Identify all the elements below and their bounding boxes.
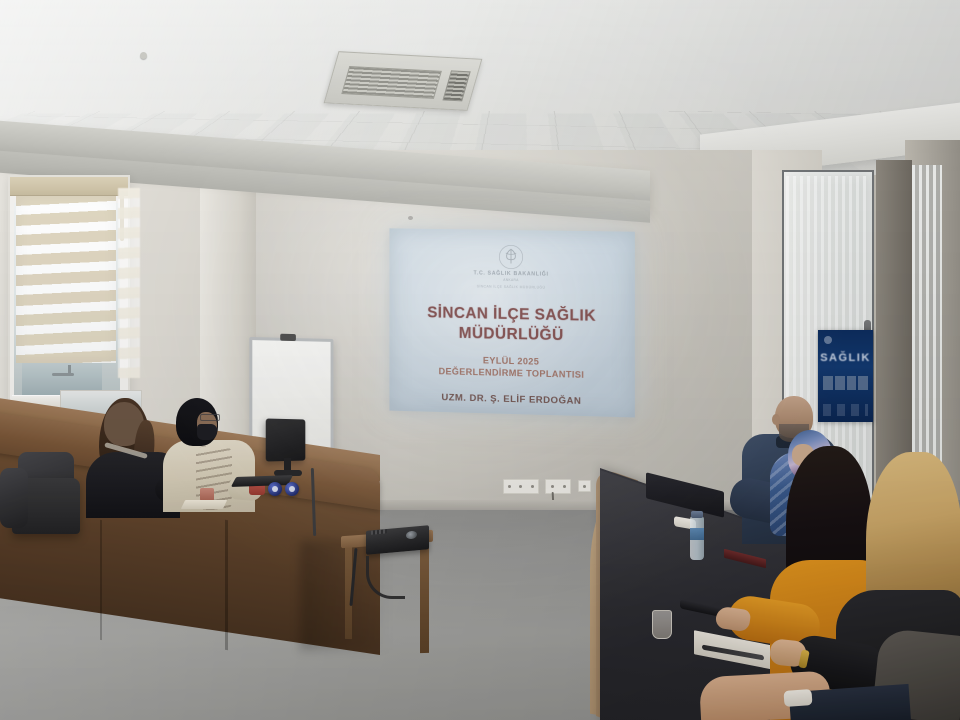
bottle-cap: [691, 511, 703, 518]
meeting-room-photo: T.C. SAĞLIK BAKANLIĞI ANKARA SİNCAN İLÇE…: [0, 0, 960, 720]
ceiling-ac-cassette: [324, 51, 483, 111]
tea-glass[interactable]: [652, 610, 672, 639]
papers: [181, 500, 227, 509]
ac-grille-icon: [341, 66, 442, 99]
left-desk-seam: [225, 520, 228, 650]
bottle-label: [690, 528, 704, 540]
table-leg: [420, 545, 429, 653]
left-desk-seam: [100, 520, 102, 640]
office-chair[interactable]: [0, 468, 28, 528]
shirt-cuff: [783, 689, 812, 707]
glasses-icon: [200, 414, 220, 421]
slide-subtitle-line2: DEĞERLENDİRME TOPLANTISI: [439, 365, 585, 381]
ministry-logo-sub2: SİNCAN İLÇE SAĞLIK MÜDÜRLÜĞÜ: [477, 284, 546, 289]
slide-subtitle: EYLÜL 2025 DEĞERLENDİRME TOPLANTISI: [439, 353, 585, 381]
slide-presenter: UZM. DR. Ş. ELİF ERDOĞAN: [441, 392, 581, 407]
window-latch-icon: [52, 373, 74, 376]
slide-title-line1: SİNCAN İLÇE SAĞLIK: [427, 303, 596, 326]
window: [8, 175, 130, 419]
poster-thumbnails: [823, 376, 868, 390]
ministry-logo: T.C. SAĞLIK BAKANLIĞI ANKARA SİNCAN İLÇE…: [474, 243, 549, 289]
ac-side-grille-icon: [442, 70, 470, 101]
blind-headrail: [10, 177, 128, 196]
speaker-right[interactable]: [285, 482, 299, 496]
ceiling-fixture: [140, 52, 147, 59]
wall-mark: [408, 216, 413, 220]
blind-sheer-overlay: [118, 188, 140, 378]
desktop-monitor[interactable]: [266, 418, 306, 461]
slide-title: SİNCAN İLÇE SAĞLIK MÜDÜRLÜĞÜ: [427, 303, 596, 346]
ministry-logo-text: T.C. SAĞLIK BAKANLIĞI: [474, 270, 549, 277]
speaker-left[interactable]: [268, 482, 282, 496]
zebra-blinds[interactable]: [16, 195, 116, 363]
wall-socket-triple[interactable]: [503, 479, 539, 494]
caduceus-icon: [498, 244, 524, 270]
ministry-logo-sub: ANKARA: [503, 278, 518, 282]
poster-title: SAĞLIK: [818, 352, 873, 364]
poster-logo-icon: [824, 336, 832, 344]
face-mask: [197, 424, 217, 440]
flipchart-clip-icon: [280, 334, 296, 341]
projection-screen: T.C. SAĞLIK BAKANLIĞI ANKARA SİNCAN İLÇE…: [389, 228, 634, 417]
wall-poster: SAĞLIK: [818, 330, 873, 422]
poster-footer: [823, 404, 868, 416]
slide-title-line2: MÜDÜRLÜĞÜ: [427, 323, 596, 347]
